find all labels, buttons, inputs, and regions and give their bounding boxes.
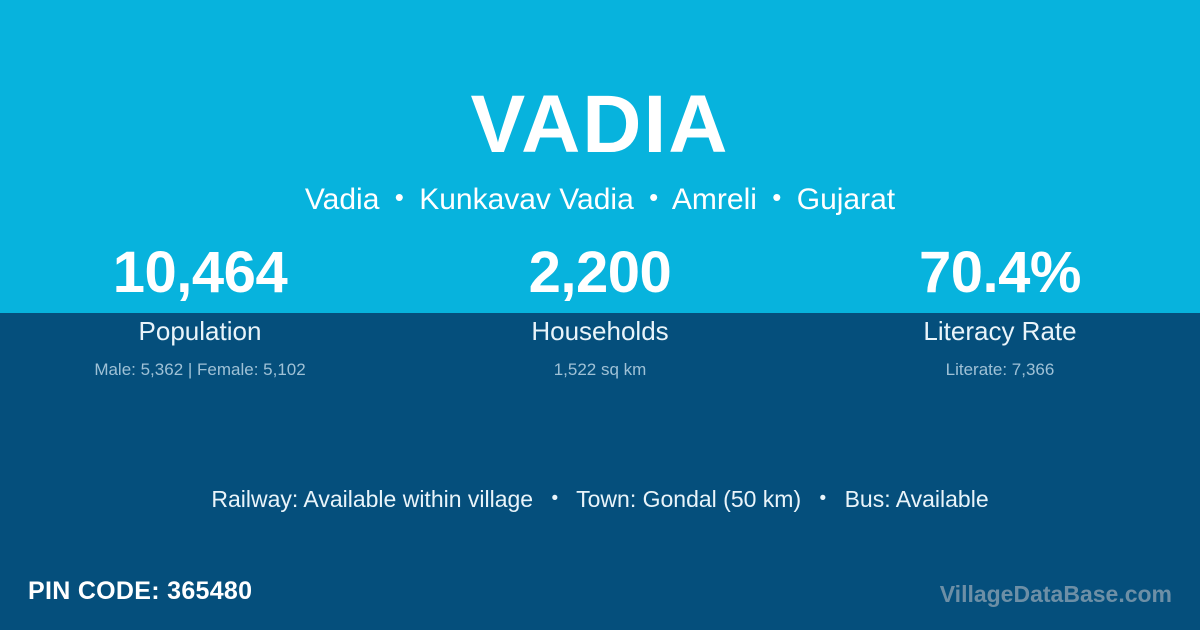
- breadcrumb-separator: •: [642, 182, 665, 212]
- stat-population-sub: Male: 5,362 | Female: 5,102: [0, 360, 400, 380]
- stat-literacy-rate-sub: Literate: 7,366: [800, 360, 1200, 380]
- breadcrumb-block: Kunkavav Vadia: [419, 183, 634, 216]
- breadcrumb-separator: •: [765, 182, 788, 212]
- amenity-bus: Bus: Available: [845, 486, 989, 512]
- amenities-summary: Railway: Available within village • Town…: [0, 486, 1200, 514]
- page-title: VADIA: [0, 84, 1200, 166]
- stat-households: 2,200 Households 1,522 sq km: [400, 243, 800, 381]
- stat-households-sub: 1,522 sq km: [400, 360, 800, 380]
- stat-households-value: 2,200: [400, 243, 800, 313]
- pin-code: PIN CODE: 365480: [28, 576, 252, 606]
- village-info-card: VADIA Vadia • Kunkavav Vadia • Amreli • …: [0, 0, 1200, 630]
- breadcrumb: Vadia • Kunkavav Vadia • Amreli • Gujara…: [0, 182, 1200, 218]
- site-brand: VillageDataBase.com: [940, 581, 1172, 609]
- stat-literacy-rate-value: 70.4%: [800, 243, 1200, 313]
- stat-households-label: Households: [400, 316, 800, 347]
- amenity-separator: •: [540, 488, 571, 509]
- stat-population: 10,464 Population Male: 5,362 | Female: …: [0, 243, 400, 381]
- amenity-separator: •: [808, 488, 839, 509]
- stat-population-value: 10,464: [0, 243, 400, 313]
- breadcrumb-district: Amreli: [672, 183, 757, 216]
- breadcrumb-village: Vadia: [305, 183, 380, 216]
- amenity-town: Town: Gondal (50 km): [576, 486, 801, 512]
- amenity-railway: Railway: Available within village: [211, 486, 533, 512]
- breadcrumb-state: Gujarat: [797, 183, 895, 216]
- stat-literacy-rate: 70.4% Literacy Rate Literate: 7,366: [800, 243, 1200, 381]
- stat-population-label: Population: [0, 316, 400, 347]
- stat-literacy-rate-label: Literacy Rate: [800, 316, 1200, 347]
- statistics-row: 10,464 Population Male: 5,362 | Female: …: [0, 243, 1200, 381]
- breadcrumb-separator: •: [388, 182, 411, 212]
